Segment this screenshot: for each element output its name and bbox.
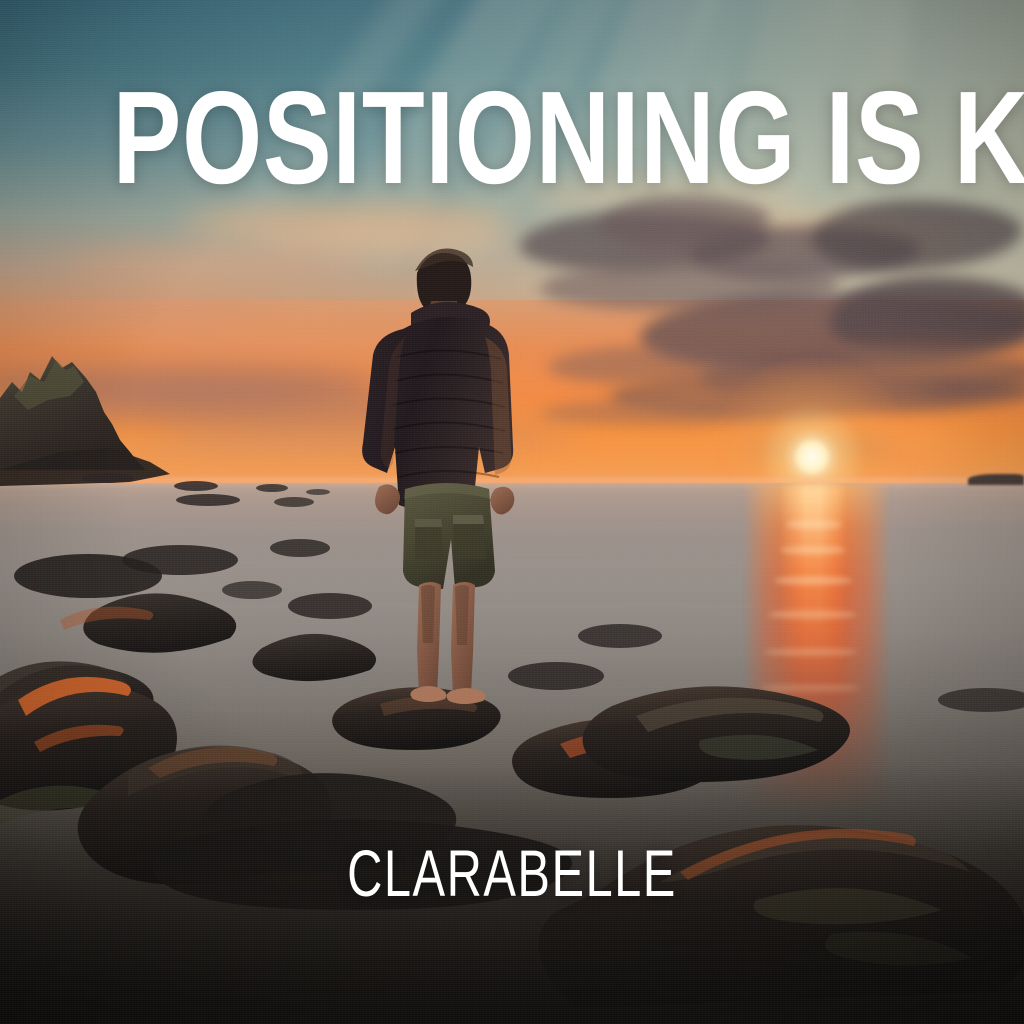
sun-icon <box>795 440 829 474</box>
distant-headland <box>968 474 1024 485</box>
image-canvas: POSITIONING IS KEY CLARABELLE <box>0 0 1024 1024</box>
